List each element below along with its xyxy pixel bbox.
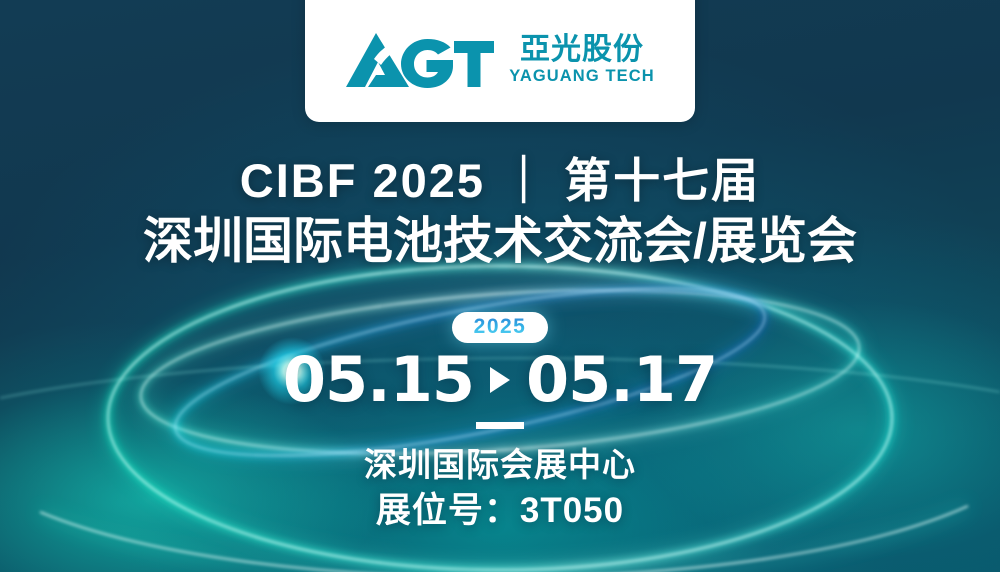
brand-wordmark: 亞光股份 YAGUANG TECH [509,34,655,87]
date-end: 05.17 [526,349,717,411]
headline-line-2: 深圳国际电池技术交流会/展览会 [0,210,1000,272]
brand-name-cn: 亞光股份 [520,34,644,66]
date-start: 05.15 [283,349,474,411]
venue-booth: 展位号：3T050 [0,487,1000,535]
date-range: 05.15 05.17 [0,349,1000,411]
event-headline: CIBF 2025 ｜ 第十七届 深圳国际电池技术交流会/展览会 [0,152,1000,272]
promo-banner: 亞光股份 YAGUANG TECH CIBF 2025 ｜ 第十七届 深圳国际电… [0,0,1000,572]
agt-logo-icon [345,29,495,91]
section-divider [476,422,524,429]
headline-line-1: CIBF 2025 ｜ 第十七届 [0,152,1000,210]
event-date-block: 2025 05.15 05.17 [0,312,1000,411]
arrow-right-icon [490,367,510,393]
venue-place: 深圳国际会展中心 [0,442,1000,487]
venue-block: 深圳国际会展中心 展位号：3T050 [0,442,1000,535]
year-badge-label: 2025 [474,315,527,338]
year-badge: 2025 [452,312,549,343]
brand-name-en: YAGUANG TECH [509,67,655,86]
brand-logo-plate: 亞光股份 YAGUANG TECH [305,0,695,122]
